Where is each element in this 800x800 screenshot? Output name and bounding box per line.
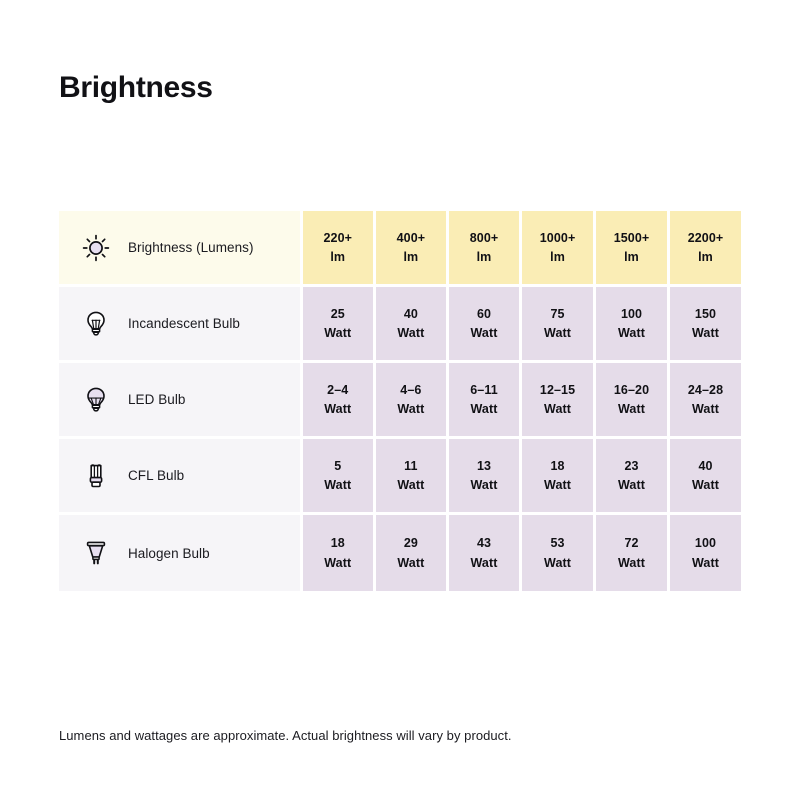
cell-unit: Watt [692,326,719,340]
cell-unit: Watt [397,478,424,492]
cell-value: 60 [477,307,491,321]
cell-value: 150 [695,307,716,321]
header-cell-value: 1000+ [540,231,576,245]
header-cell-value: 220+ [323,231,352,245]
cell-value: 53 [550,536,564,550]
table-row: CFL Bulb 5 Watt 11 Watt [59,439,741,515]
cell-value: 40 [698,459,712,473]
cell-halogen-3: 43 Watt [449,515,522,591]
cell-unit: Watt [618,556,645,570]
row-label-text: CFL Bulb [128,468,184,483]
cell-unit: Watt [397,556,424,570]
cell-incandescent-1: 25 Watt [303,287,376,363]
page-title: Brightness [59,70,213,106]
table-header-row: Brightness (Lumens) 220+ lm 400+ lm [59,211,741,287]
cell-value: 43 [477,536,491,550]
header-cell-6: 2200+ lm [670,211,741,287]
cell-led-5: 16–20 Watt [596,363,670,439]
header-cell-value: 1500+ [614,231,650,245]
cell-value: 40 [404,307,418,321]
cell-value: 12–15 [540,383,575,397]
table-row: Halogen Bulb 18 Watt 29 Watt [59,515,741,591]
table-row: LED Bulb 2–4 Watt 4–6 Watt [59,363,741,439]
header-cell-value: 2200+ [688,231,724,245]
header-cell-unit: lm [330,250,345,264]
cell-value: 23 [624,459,638,473]
cell-unit: Watt [544,326,571,340]
cell-unit: Watt [470,326,497,340]
header-label-cell: Brightness (Lumens) [59,211,303,287]
header-cell-unit: lm [403,250,418,264]
cell-halogen-4: 53 Watt [522,515,596,591]
header-cell-4: 1000+ lm [522,211,596,287]
cell-incandescent-2: 40 Watt [376,287,449,363]
row-label-cell-led: LED Bulb [59,363,303,439]
cell-unit: Watt [470,402,497,416]
cell-unit: Watt [618,478,645,492]
header-cell-2: 400+ lm [376,211,449,287]
cell-cfl-3: 13 Watt [449,439,522,515]
cell-unit: Watt [397,326,424,340]
cell-led-6: 24–28 Watt [670,363,741,439]
row-label-cell-incandescent: Incandescent Bulb [59,287,303,363]
cell-unit: Watt [692,556,719,570]
row-label-text: Halogen Bulb [128,546,210,561]
brightness-comparison-page: Brightness [0,0,800,800]
cell-unit: Watt [397,402,424,416]
table-row: Incandescent Bulb 25 Watt 40 Watt [59,287,741,363]
cell-unit: Watt [544,402,571,416]
cell-value: 4–6 [400,383,421,397]
cell-unit: Watt [618,326,645,340]
row-label-cell-cfl: CFL Bulb [59,439,303,515]
header-cell-1: 220+ lm [303,211,376,287]
cell-unit: Watt [470,478,497,492]
cell-value: 100 [621,307,642,321]
cell-unit: Watt [544,556,571,570]
cell-value: 5 [334,459,341,473]
cell-incandescent-3: 60 Watt [449,287,522,363]
cell-value: 11 [404,459,417,473]
cell-value: 25 [331,307,345,321]
cell-value: 18 [331,536,345,550]
led-bulb-icon [79,383,113,417]
cell-cfl-6: 40 Watt [670,439,741,515]
cell-halogen-2: 29 Watt [376,515,449,591]
cell-value: 100 [695,536,716,550]
brightness-table: Brightness (Lumens) 220+ lm 400+ lm [59,211,741,591]
halogen-bulb-icon [79,536,113,570]
cell-led-4: 12–15 Watt [522,363,596,439]
cell-value: 24–28 [688,383,723,397]
cell-halogen-1: 18 Watt [303,515,376,591]
cell-led-3: 6–11 Watt [449,363,522,439]
header-cell-value: 800+ [470,231,499,245]
cell-value: 72 [624,536,638,550]
cell-value: 2–4 [327,383,348,397]
cell-unit: Watt [692,402,719,416]
cell-incandescent-4: 75 Watt [522,287,596,363]
cell-value: 6–11 [470,383,498,397]
cell-value: 18 [550,459,564,473]
cell-unit: Watt [324,478,351,492]
cell-cfl-1: 5 Watt [303,439,376,515]
row-label-cell-halogen: Halogen Bulb [59,515,303,591]
cell-value: 75 [550,307,564,321]
cell-halogen-5: 72 Watt [596,515,670,591]
cell-unit: Watt [324,556,351,570]
cell-cfl-2: 11 Watt [376,439,449,515]
header-cell-5: 1500+ lm [596,211,670,287]
cell-value: 29 [404,536,418,550]
cell-unit: Watt [618,402,645,416]
table-body: Brightness (Lumens) 220+ lm 400+ lm [59,211,741,591]
cfl-bulb-icon [79,459,113,493]
cell-value: 16–20 [614,383,649,397]
header-cell-unit: lm [477,250,492,264]
cell-value: 13 [477,459,491,473]
cell-unit: Watt [324,402,351,416]
cell-halogen-6: 100 Watt [670,515,741,591]
header-cell-value: 400+ [397,231,426,245]
cell-led-1: 2–4 Watt [303,363,376,439]
incandescent-bulb-icon [79,307,113,341]
cell-led-2: 4–6 Watt [376,363,449,439]
header-cell-unit: lm [698,250,713,264]
row-label-text: LED Bulb [128,392,185,407]
footnote-text: Lumens and wattages are approximate. Act… [59,728,512,743]
header-cell-unit: lm [550,250,565,264]
cell-unit: Watt [470,556,497,570]
header-cell-3: 800+ lm [449,211,522,287]
cell-unit: Watt [324,326,351,340]
cell-incandescent-6: 150 Watt [670,287,741,363]
row-label-text: Incandescent Bulb [128,316,240,331]
header-cell-unit: lm [624,250,639,264]
sun-icon [79,231,113,265]
cell-unit: Watt [692,478,719,492]
cell-unit: Watt [544,478,571,492]
cell-cfl-5: 23 Watt [596,439,670,515]
cell-incandescent-5: 100 Watt [596,287,670,363]
header-label-text: Brightness (Lumens) [128,240,254,255]
cell-cfl-4: 18 Watt [522,439,596,515]
